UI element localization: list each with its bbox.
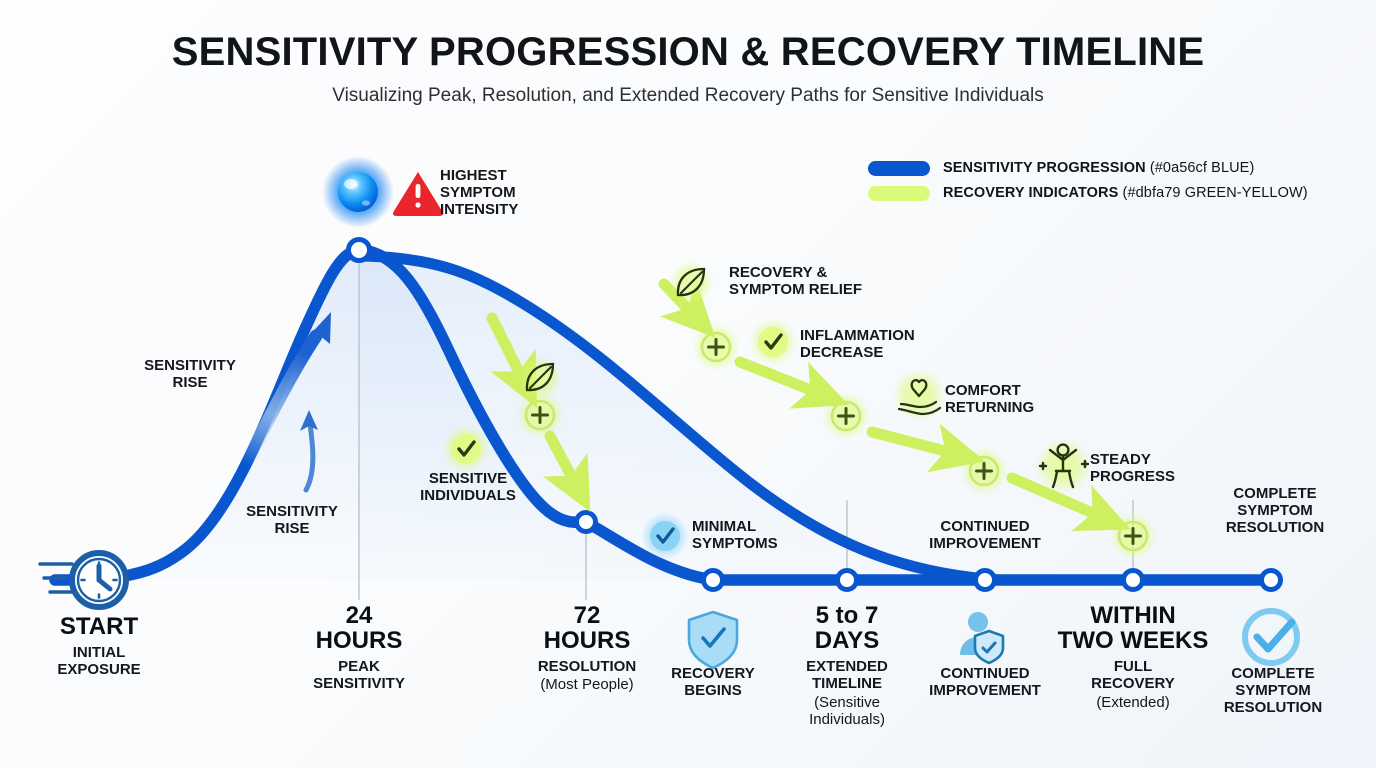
axis-5to7-big: 5 to 7 DAYS: [771, 603, 923, 653]
annotation-highest-symptom-intensity: HIGHEST SYMPTOM INTENSITY: [440, 168, 570, 218]
person-shield-icon: [960, 612, 1003, 663]
annotation-recovery-symptom-relief: RECOVERY & SYMPTOM RELIEF: [729, 265, 919, 299]
axis-complete-resolution-small: COMPLETE SYMPTOM RESOLUTION: [1193, 665, 1353, 716]
axis-two-weeks-big: WITHIN TWO WEEKS: [1043, 603, 1223, 653]
node-recovery-begins: [704, 571, 723, 590]
leaf-icon-2: [669, 261, 713, 305]
infographic-canvas: SENSITIVITY PROGRESSION & RECOVERY TIMEL…: [0, 0, 1376, 768]
axis-recovery-begins-small: RECOVERY BEGINS: [640, 665, 786, 699]
axis-24h-big: 24 HOURS: [279, 603, 439, 653]
circle-check-icon: [1245, 611, 1297, 663]
check-chip-sensitive-individuals: [451, 434, 481, 464]
peak-glow-orb-icon: [322, 156, 394, 228]
leaf-icon-1: [518, 356, 562, 400]
annotation-sensitivity-rise-inner: SENSITIVITY RISE: [222, 504, 362, 538]
axis-milestone-recovery-begins: RECOVERY BEGINS: [640, 665, 786, 699]
check-chip-inflammation-decrease: [758, 327, 788, 357]
celebrating-person-icon: [1035, 438, 1091, 494]
annotation-inflammation-decrease: INFLAMMATION DECREASE: [800, 328, 975, 362]
shield-check-icon: [689, 612, 737, 668]
axis-start-small: INITIAL EXPOSURE: [19, 644, 179, 678]
axis-start-big: START: [19, 614, 179, 639]
node-peak-24-hours: [349, 240, 370, 261]
node-72-hours: [577, 513, 596, 532]
check-chip-minimal-symptoms: [650, 521, 680, 551]
node-two-weeks: [1124, 571, 1143, 590]
axis-milestone-24-hours: 24 HOURS PEAK SENSITIVITY: [279, 603, 439, 693]
node-complete-resolution: [1262, 571, 1281, 590]
annotation-steady-progress: STEADY PROGRESS: [1090, 452, 1210, 486]
axis-milestone-start: START INITIAL EXPOSURE: [19, 614, 179, 678]
annotation-sensitivity-rise-outer: SENSITIVITY RISE: [120, 358, 260, 392]
recovery-arrow-5: [872, 432, 972, 458]
axis-72h-big: 72 HOURS: [503, 603, 671, 653]
annotation-continued-improvement: CONTINUED IMPROVEMENT: [885, 519, 1085, 553]
hand-heart-icon: [893, 369, 945, 421]
node-5-to-7-days: [838, 571, 857, 590]
annotation-complete-symptom-resolution: COMPLETE SYMPTOM RESOLUTION: [1205, 486, 1345, 536]
annotation-comfort-returning: COMFORT RETURNING: [945, 383, 1095, 417]
axis-milestone-complete-resolution: COMPLETE SYMPTOM RESOLUTION: [1193, 665, 1353, 716]
node-continued-improvement: [976, 571, 995, 590]
recovery-arrow-4: [740, 362, 836, 400]
annotation-sensitive-individuals: SENSITIVE INDIVIDUALS: [396, 471, 540, 505]
annotation-minimal-symptoms: MINIMAL SYMPTOMS: [692, 519, 832, 553]
axis-24h-small: PEAK SENSITIVITY: [279, 658, 439, 692]
warning-triangle-icon: [393, 172, 443, 216]
